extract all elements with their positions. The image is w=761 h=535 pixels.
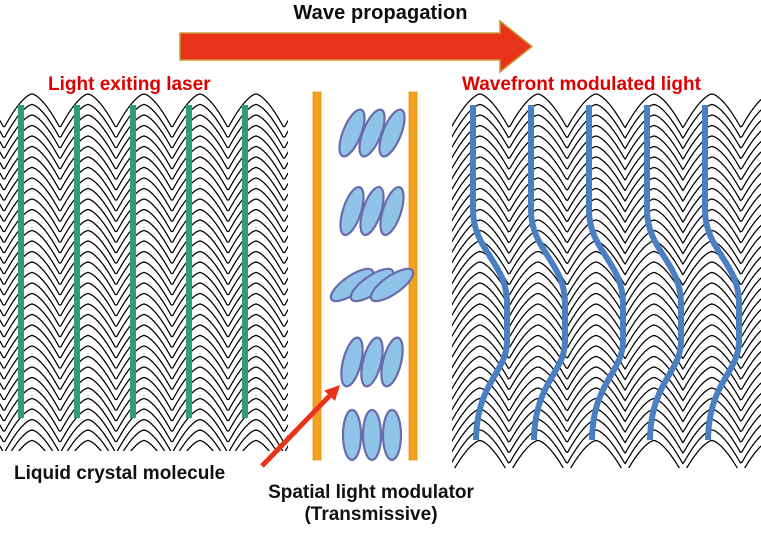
wave-crest-line — [422, 294, 761, 328]
wave-crest-line — [422, 241, 761, 275]
wave-crest-line — [0, 283, 293, 316]
wave-crest-line — [422, 441, 761, 475]
wave-crest-line — [0, 336, 293, 369]
wave-crest-line — [0, 304, 293, 337]
wave-crest-line — [0, 315, 293, 348]
wave-crest-line — [0, 367, 293, 400]
label-liquid-crystal-molecule: Liquid crystal molecule — [14, 463, 225, 485]
wave-propagation-arrow — [180, 21, 532, 72]
wave-crest-line — [0, 262, 293, 295]
wave-crest-line — [422, 252, 761, 286]
molecule-group-1 — [334, 106, 409, 159]
liquid-crystal-molecules — [326, 106, 417, 460]
wave-crest-line — [0, 294, 293, 327]
wave-crest-line — [422, 273, 761, 307]
wave-crest-line — [0, 346, 293, 379]
wave-crest-line — [0, 378, 293, 411]
figure-canvas: Wave propagation Light exiting laser Wav… — [0, 0, 761, 535]
label-light-exiting-laser: Light exiting laser — [48, 74, 211, 96]
molecule-group-5 — [343, 410, 401, 460]
wave-crest-line — [0, 189, 293, 222]
wave-crest-line — [422, 325, 761, 359]
molecule-group-3 — [326, 263, 417, 306]
plane-wavefront-field — [0, 94, 293, 473]
label-spatial-light-modulator: Spatial light modulator(Transmissive) — [253, 482, 489, 527]
wave-crest-line — [422, 367, 761, 401]
wave-crest-line — [422, 357, 761, 391]
wave-crest-line — [0, 399, 293, 432]
wave-crest-line — [0, 136, 293, 169]
wave-crest-line — [0, 147, 293, 180]
slm-caption-sub: (Transmissive) — [253, 504, 489, 526]
wave-crest-line — [422, 346, 761, 380]
wave-crest-line — [0, 168, 293, 201]
wave-crest-line — [0, 231, 293, 264]
wave-crest-line — [0, 357, 293, 390]
wave-crest-line — [0, 178, 293, 211]
wave-crest-line — [422, 304, 761, 338]
wave-crest-line — [0, 420, 293, 453]
wave-crest-line — [422, 262, 761, 296]
wave-crest-line — [422, 283, 761, 317]
wave-crest-line — [0, 157, 293, 190]
molecule-group-4 — [337, 336, 407, 389]
liquid-crystal-molecule — [343, 410, 361, 460]
wave-crest-line — [0, 210, 293, 243]
wave-crest-line — [422, 336, 761, 370]
liquid-crystal-molecule — [363, 410, 381, 460]
wave-crest-line — [0, 126, 293, 159]
wave-crest-line — [0, 273, 293, 306]
molecule-group-2 — [336, 184, 409, 237]
wave-crest-line — [0, 199, 293, 232]
label-wavefront-modulated-light: Wavefront modulated light — [462, 74, 701, 96]
wave-crest-line — [0, 430, 293, 463]
wave-crest-line — [0, 220, 293, 253]
spatial-light-modulator — [313, 92, 418, 460]
wave-crest-line — [0, 388, 293, 421]
wave-crest-line — [0, 94, 293, 127]
wave-crest-line — [0, 409, 293, 442]
wave-crest-line — [422, 315, 761, 349]
wave-crest-line — [0, 252, 293, 285]
slm-caption-main: Spatial light modulator — [268, 482, 474, 503]
liquid-crystal-molecule — [383, 410, 401, 460]
wave-crest-line — [0, 325, 293, 358]
wave-crest-line — [0, 115, 293, 148]
wave-crest-line — [0, 241, 293, 274]
wave-crest-line — [0, 105, 293, 138]
wave-propagation-title: Wave propagation — [0, 2, 761, 25]
